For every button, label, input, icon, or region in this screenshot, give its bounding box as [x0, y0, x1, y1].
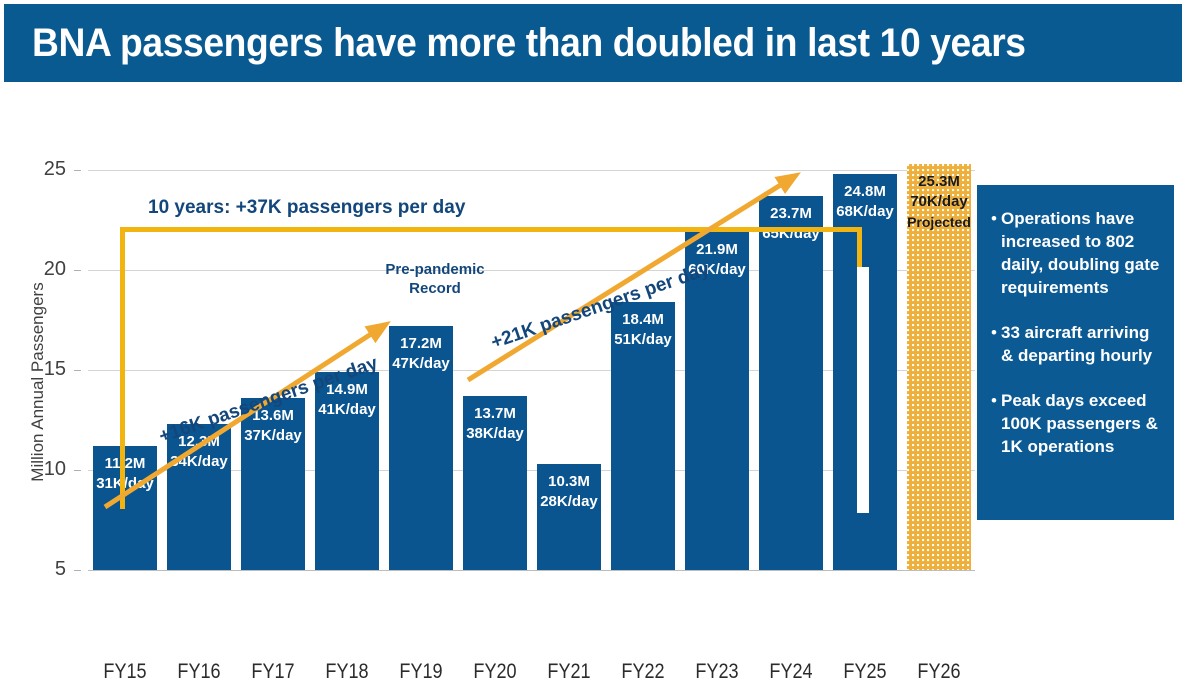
x-tick-label-fy22: FY22	[615, 660, 670, 684]
x-tick-label-fy25: FY25	[837, 660, 892, 684]
callout-text-2: Peak days exceed 100K passengers & 1K op…	[1001, 389, 1160, 458]
bar-note-fy26: Projected	[907, 212, 971, 232]
y-tick-label-5: 5	[22, 558, 66, 581]
pre-pandemic-line-2: Record	[355, 279, 515, 298]
x-tick-label-fy24: FY24	[763, 660, 818, 684]
y-tick-mark-5	[74, 570, 81, 571]
bar-label-fy26: 25.3M70K/dayProjected	[907, 172, 971, 232]
y-tick-mark-25	[74, 170, 81, 171]
bar-rate-fy26: 70K/day	[907, 192, 971, 212]
chart-canvas: Million Annual Passengers 25 20 15 10 5 …	[0, 82, 1186, 611]
list-item: • 33 aircraft arriving & departing hourl…	[987, 321, 1160, 367]
y-tick-label-25: 25	[22, 158, 66, 181]
insights-callout-box: • Operations have increased to 802 daily…	[977, 185, 1174, 520]
bar-value-fy25: 24.8M	[833, 182, 897, 202]
x-tick-label-fy17: FY17	[245, 660, 300, 684]
callout-text-1: 33 aircraft arriving & departing hourly	[1001, 321, 1160, 367]
pre-pandemic-record-label: Pre-pandemic Record	[355, 260, 515, 298]
bullet-icon: •	[987, 389, 1001, 412]
gridline-25	[88, 170, 975, 171]
header-banner: BNA passengers have more than doubled in…	[4, 4, 1182, 82]
bar-label-fy25: 24.8M68K/day	[833, 182, 897, 222]
list-item: • Operations have increased to 802 daily…	[987, 207, 1160, 299]
bullet-icon: •	[987, 207, 1001, 230]
page-title: BNA passengers have more than doubled in…	[32, 21, 1026, 66]
bullet-icon: •	[987, 321, 1001, 344]
bar-value-fy26: 25.3M	[907, 172, 971, 192]
y-tick-label-20: 20	[22, 258, 66, 281]
axis-baseline	[88, 570, 975, 571]
x-tick-label-fy16: FY16	[171, 660, 226, 684]
bar-value-fy24: 23.7M	[759, 204, 823, 224]
x-tick-label-fy26: FY26	[911, 660, 966, 684]
x-tick-label-fy20: FY20	[467, 660, 522, 684]
y-tick-mark-15	[74, 370, 81, 371]
ten-year-bracket-label: 10 years: +37K passengers per day	[148, 197, 465, 219]
pre-pandemic-line-1: Pre-pandemic	[355, 260, 515, 279]
list-item: • Peak days exceed 100K passengers & 1K …	[987, 389, 1160, 458]
bar-fy26[interactable]: 25.3M70K/dayProjected	[907, 164, 971, 570]
y-tick-mark-10	[74, 470, 81, 471]
x-tick-label-fy18: FY18	[319, 660, 374, 684]
bar-rate-fy25: 68K/day	[833, 202, 897, 222]
y-tick-label-10: 10	[22, 458, 66, 481]
x-tick-label-fy23: FY23	[689, 660, 744, 684]
x-tick-label-fy21: FY21	[541, 660, 596, 684]
callout-text-0: Operations have increased to 802 daily, …	[1001, 207, 1160, 299]
x-tick-label-fy15: FY15	[97, 660, 152, 684]
y-tick-label-15: 15	[22, 358, 66, 381]
y-tick-mark-20	[74, 270, 81, 271]
x-tick-label-fy19: FY19	[393, 660, 448, 684]
bracket-right-mask	[857, 267, 869, 513]
